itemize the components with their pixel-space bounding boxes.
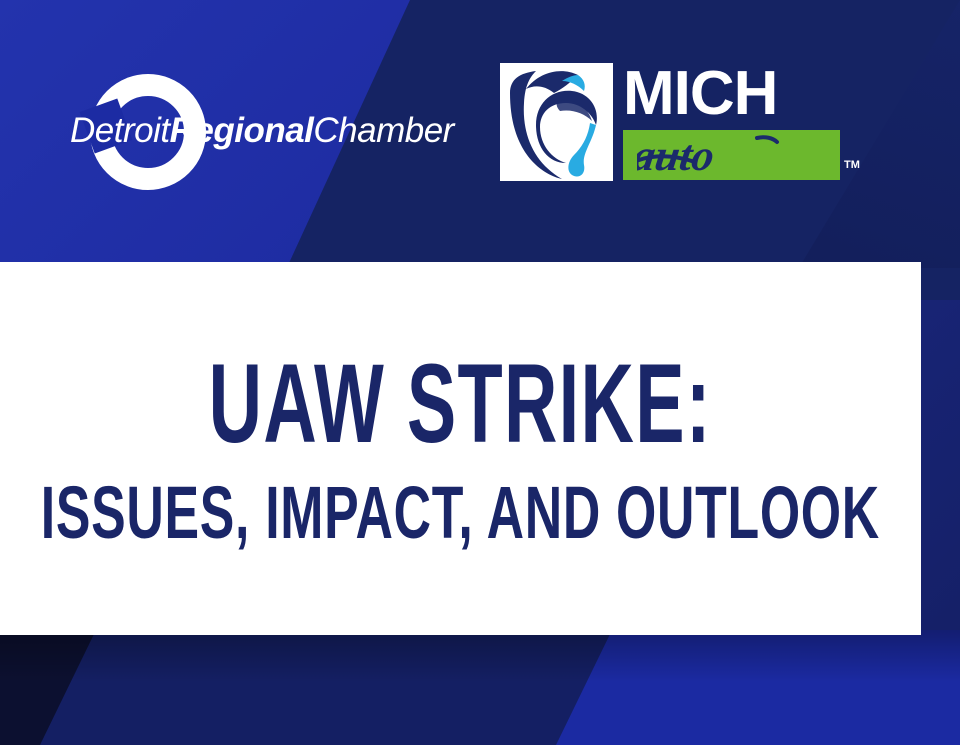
chamber-wordmark: DetroitRegionalChamber [70, 106, 462, 156]
title-panel: UAW STRIKE: ISSUES, IMPACT, AND OUTLOOK [0, 262, 921, 635]
michauto-trademark: TM [844, 159, 860, 171]
title-card: DetroitRegionalChamber MICH auto [0, 0, 960, 745]
michauto-green-bar: auto [623, 130, 840, 180]
page-title: UAW STRIKE: [209, 348, 712, 460]
michauto-word-auto: auto [637, 130, 837, 180]
michauto-word-mich: MICH [623, 59, 777, 129]
chamber-word-regional: Regional [170, 111, 314, 150]
chamber-word-detroit: Detroit [70, 111, 170, 150]
detroit-regional-chamber-logo: DetroitRegionalChamber [62, 72, 462, 192]
michauto-swoosh-icon [500, 63, 613, 181]
michauto-logo: MICH auto TM [500, 63, 860, 185]
michauto-wordmark: MICH auto TM [623, 63, 860, 181]
page-subtitle: ISSUES, IMPACT, AND OUTLOOK [41, 476, 880, 550]
chamber-word-chamber: Chamber [313, 111, 453, 150]
